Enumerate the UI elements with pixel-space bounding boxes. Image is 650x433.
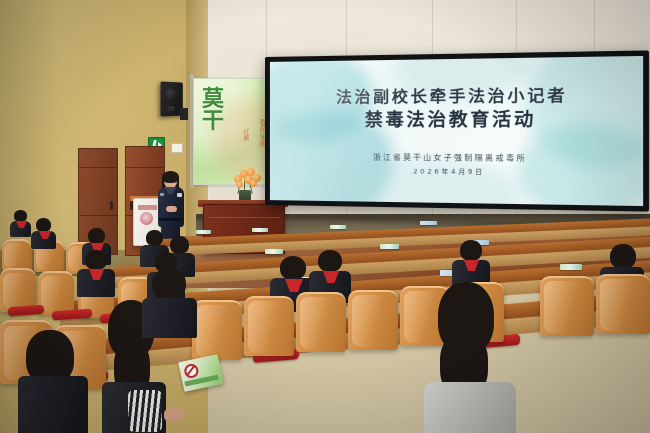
striped-sleeve <box>128 390 162 432</box>
auditorium-seat <box>348 290 398 350</box>
auditorium-seat <box>244 296 294 356</box>
handout <box>560 264 582 270</box>
handout <box>196 230 211 234</box>
auditorium-seat <box>540 276 594 336</box>
auditorium-seat <box>192 300 242 360</box>
handout <box>252 228 268 232</box>
screen-surface: 法治副校长牵手法治小记者 禁毒法治教育活动 浙江省莫干山女子强制隔离戒毒所 20… <box>270 56 643 206</box>
handout <box>330 225 346 229</box>
auditorium-photo: 莫干 春风化雨 红枫 法治副校长牵手法治小记者 禁毒法治教育活动 浙江省莫干山女… <box>0 0 650 433</box>
projection-screen: 法治副校长牵手法治小记者 禁毒法治教育活动 浙江省莫干山女子强制隔离戒毒所 20… <box>265 50 649 211</box>
grey-top <box>424 382 516 433</box>
speaker-bracket <box>180 108 188 120</box>
auditorium-seat <box>296 292 346 352</box>
screen-glare <box>270 56 643 206</box>
handout <box>420 221 437 225</box>
auditorium-seat <box>2 239 32 271</box>
hand <box>164 408 184 422</box>
handout <box>380 244 399 249</box>
light-switch[interactable] <box>171 143 183 153</box>
handout <box>265 249 283 254</box>
auditorium-seat <box>596 274 650 334</box>
banner-side-text-2: 红枫 <box>242 129 249 141</box>
police-emblem-icon <box>140 212 153 225</box>
banner-main-text: 莫干 <box>202 89 224 133</box>
